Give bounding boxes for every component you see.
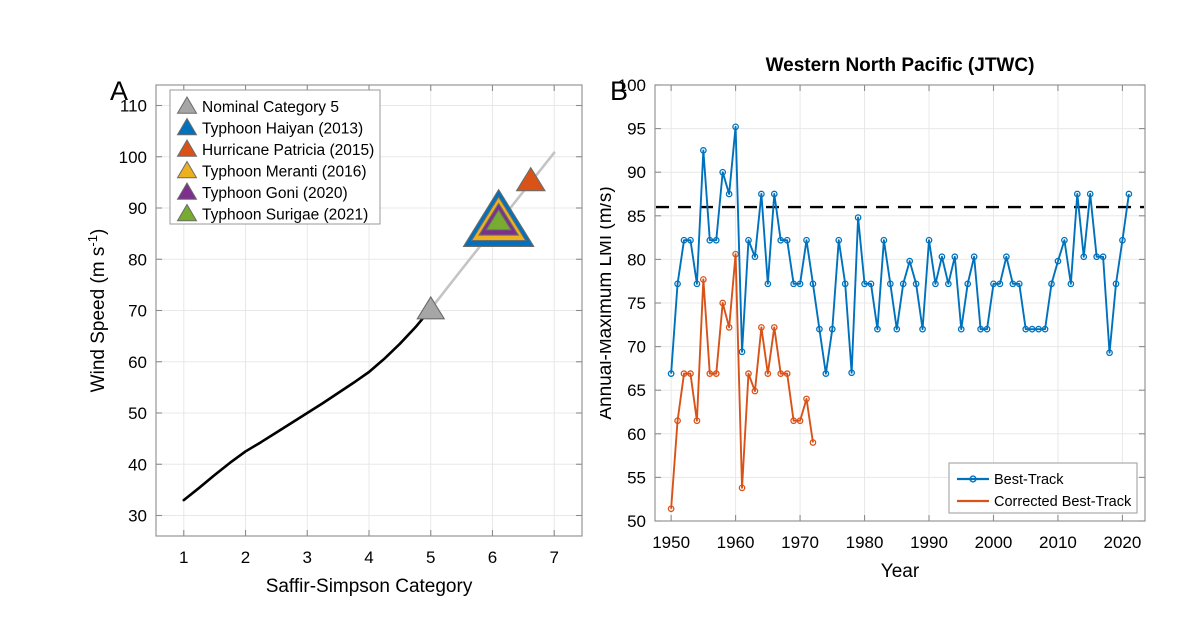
x-tick-label: 1950	[652, 533, 690, 552]
x-tick-label: 1960	[717, 533, 755, 552]
panel-a-letter: A	[110, 76, 128, 106]
x-tick-label: 4	[364, 548, 373, 567]
x-tick-label: 2	[241, 548, 250, 567]
panel-b-title: Western North Pacific (JTWC)	[766, 55, 1035, 76]
y-tick-label: 90	[627, 163, 646, 182]
panel-b-plot: 5055606570758085909510019501960197019801…	[600, 55, 1145, 582]
legend-label-typhoon-meranti-2016: Typhoon Meranti (2016)	[202, 164, 367, 181]
y-tick-label: 40	[128, 455, 147, 474]
legend-label-typhoon-surigae-2021: Typhoon Surigae (2021)	[202, 207, 368, 224]
x-tick-label: 1970	[781, 533, 819, 552]
panel-b-series-line-best-track	[671, 127, 1129, 374]
panel-b-svg: 5055606570758085909510019501960197019801…	[600, 0, 1200, 630]
y-tick-label: 50	[627, 512, 646, 531]
y-tick-label: 100	[119, 148, 147, 167]
x-tick-label: 1980	[846, 533, 884, 552]
y-tick-label: 70	[627, 338, 646, 357]
legend-label-typhoon-goni-2020: Typhoon Goni (2020)	[202, 185, 348, 202]
legend-label-typhoon-haiyan-2013: Typhoon Haiyan (2013)	[202, 121, 363, 138]
panel-b-series-line-corrected-best-track	[671, 254, 813, 509]
panel-a-x-axis-label: Saffir-Simpson Category	[266, 576, 473, 597]
x-tick-label: 6	[488, 548, 497, 567]
panel-b-y-axis-label: Annual-Maximum LMI (m/s)	[600, 186, 616, 419]
y-tick-label: 50	[128, 404, 147, 423]
panel-a-y-axis-label: Wind Speed (m s-1)	[85, 229, 109, 393]
panel-b-letter: B	[610, 76, 628, 106]
y-tick-label: 90	[128, 199, 147, 218]
panel-b-x-axis-label: Year	[881, 561, 920, 582]
y-tick-label: 80	[627, 250, 646, 269]
y-tick-label: 55	[627, 468, 646, 487]
legend-label-corrected-best-track: Corrected Best-Track	[994, 494, 1132, 510]
x-tick-label: 2010	[1039, 533, 1077, 552]
y-tick-label: 65	[627, 381, 646, 400]
y-tick-label: 80	[128, 250, 147, 269]
figure-container: 304050607080901001101234567Saffir-Simpso…	[0, 0, 1200, 630]
legend-label-best-track: Best-Track	[994, 472, 1064, 488]
panel-b-legend: Best-TrackCorrected Best-Track	[949, 463, 1137, 513]
legend-label-nominal-category-5: Nominal Category 5	[202, 99, 339, 116]
x-tick-label: 1990	[910, 533, 948, 552]
x-tick-label: 3	[303, 548, 312, 567]
panel-a-wind-speed-category: 304050607080901001101234567Saffir-Simpso…	[0, 0, 600, 630]
panel-a-svg: 304050607080901001101234567Saffir-Simpso…	[0, 0, 600, 630]
y-tick-label: 85	[627, 207, 646, 226]
panel-b-annual-max-lmi: 5055606570758085909510019501960197019801…	[600, 0, 1200, 630]
x-tick-label: 5	[426, 548, 435, 567]
panel-a-legend: Nominal Category 5Typhoon Haiyan (2013)H…	[170, 90, 380, 224]
legend-label-hurricane-patricia-2015: Hurricane Patricia (2015)	[202, 142, 374, 159]
y-tick-label: 95	[627, 120, 646, 139]
x-tick-label: 2000	[975, 533, 1013, 552]
x-tick-label: 2020	[1104, 533, 1142, 552]
y-tick-label: 60	[627, 425, 646, 444]
panel-a-plot: 304050607080901001101234567Saffir-Simpso…	[85, 76, 582, 597]
x-tick-label: 1	[179, 548, 188, 567]
y-tick-label: 75	[627, 294, 646, 313]
y-tick-label: 60	[128, 353, 147, 372]
y-tick-label: 70	[128, 302, 147, 321]
x-tick-label: 7	[549, 548, 558, 567]
marker-nominal-category-5	[417, 297, 444, 319]
y-tick-label: 30	[128, 507, 147, 526]
